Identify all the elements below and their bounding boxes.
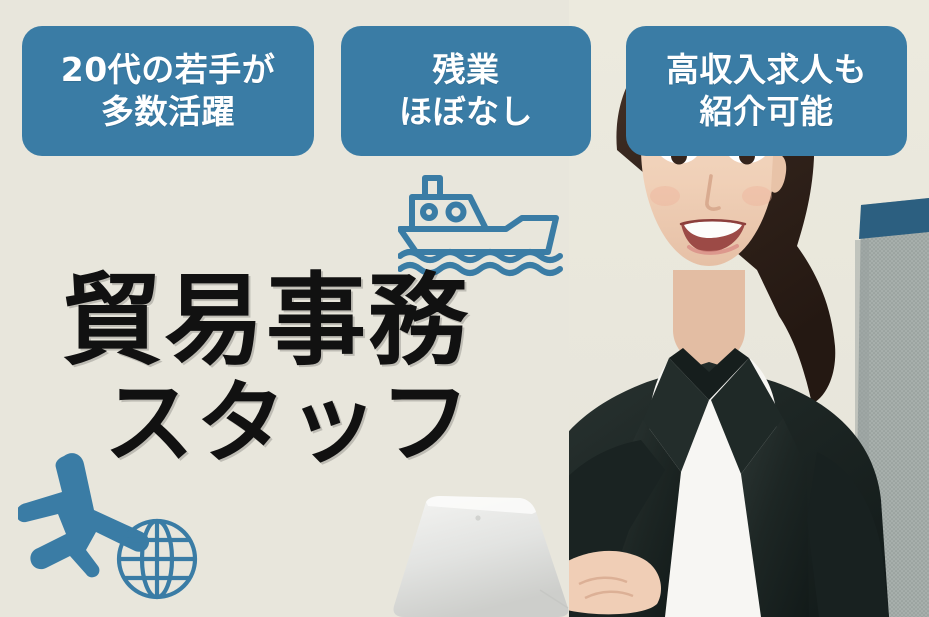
ship-icon [398, 172, 573, 277]
badge-high-income-line-1: 高収入求人も [666, 49, 867, 91]
badge-young-workers-line-1: 20代の若手が [61, 49, 275, 91]
badge-young-workers: 20代の若手が 多数活躍 [22, 26, 314, 156]
wave-line [400, 265, 560, 273]
badge-high-income: 高収入求人も 紹介可能 [626, 26, 907, 156]
page-title: 貿易事務 スタッフ [62, 270, 472, 468]
badge-overtime: 残業 ほぼなし [341, 26, 591, 156]
badge-overtime-line-1: 残業 [433, 49, 500, 91]
badge-overtime-line-2: ほぼなし [399, 91, 533, 133]
globe-icon [116, 518, 198, 600]
laptop-icon [390, 496, 595, 617]
headline-line-1: 貿易事務 [62, 270, 472, 370]
job-ad-banner: 貿易事務 スタッフ 20代の若手が 多数活躍 残業 ほぼなし 高収入求人も 紹介… [0, 0, 929, 617]
badge-high-income-line-2: 紹介可能 [700, 91, 834, 133]
badge-young-workers-line-2: 多数活躍 [101, 91, 235, 133]
